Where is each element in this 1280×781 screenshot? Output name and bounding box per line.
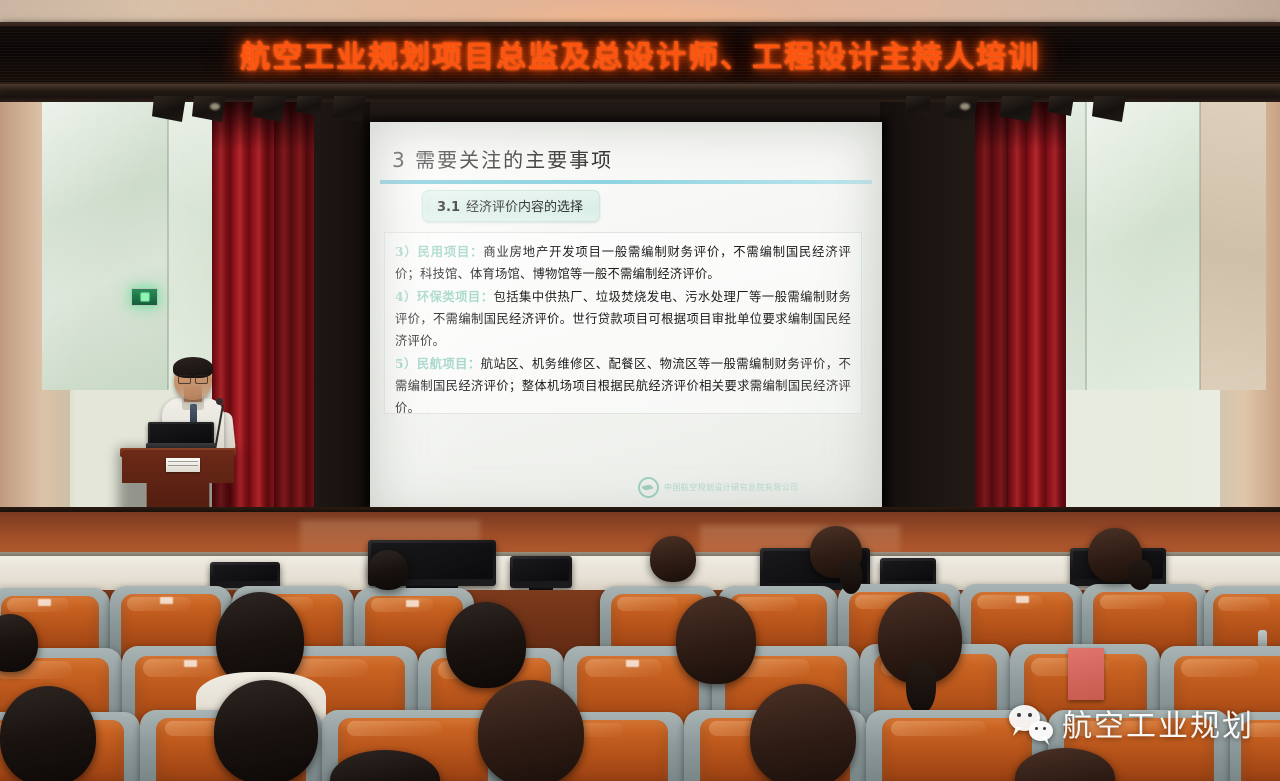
slide-subtitle-text: 经济评价内容的选择 bbox=[466, 200, 583, 215]
led-banner: 航空工业规划项目总监及总设计师、工程设计主持人培训 bbox=[0, 22, 1280, 88]
podium-nameplate bbox=[166, 458, 200, 472]
paragraph-lead: 5）民航项目： bbox=[395, 356, 481, 371]
company-logo-text: 中国航空规划设计研究总院有限公司 bbox=[664, 482, 798, 493]
stage-curtain-right-inner bbox=[975, 90, 1011, 538]
slide-subtitle-number: 3.1 bbox=[437, 200, 460, 215]
audience-head bbox=[750, 684, 856, 781]
stage-curtain-right bbox=[1008, 90, 1066, 538]
slide-paragraph: 3）民用项目：商业房地产开发项目一般需编制财务评价，不需编制国民经济评价；科技馆… bbox=[395, 241, 851, 285]
audience-head bbox=[368, 550, 408, 590]
lamp-glow bbox=[960, 103, 970, 110]
audience-ponytail bbox=[1128, 560, 1152, 590]
slide-paragraph: 5）民航项目：航站区、机务维修区、配餐区、物流区等一般需编制财务评价，不需编制国… bbox=[395, 353, 851, 419]
audience-head bbox=[676, 596, 756, 684]
audience-ponytail bbox=[840, 560, 862, 594]
audience-head bbox=[446, 602, 526, 688]
panel-seam bbox=[1199, 90, 1201, 390]
slide-paragraph: 4）环保类项目：包括集中供热厂、垃圾焚烧发电、污水处理厂等一般需编制财务评价，不… bbox=[395, 286, 851, 352]
monitor bbox=[210, 562, 280, 588]
lamp-glow bbox=[210, 103, 220, 110]
slide-body: 3）民用项目：商业房地产开发项目一般需编制财务评价，不需编制国民经济评价；科技馆… bbox=[384, 232, 862, 414]
microphone-icon bbox=[216, 398, 223, 405]
emergency-exit-sign-icon bbox=[131, 288, 158, 306]
audience-head bbox=[650, 536, 696, 582]
panel-seam bbox=[1085, 90, 1087, 390]
company-logo-icon bbox=[638, 477, 659, 498]
projection-screen: 3 需要关注的主要事项 3.1经济评价内容的选择 3）民用项目：商业房地产开发项… bbox=[370, 122, 882, 526]
slide-title: 3 需要关注的主要事项 bbox=[392, 144, 613, 173]
audience-ponytail bbox=[906, 662, 936, 714]
audience-head bbox=[0, 686, 96, 781]
slide-footer-logo: 中国航空规划设计研究总院有限公司 bbox=[638, 477, 798, 498]
monitor bbox=[510, 556, 572, 588]
laptop-lid bbox=[148, 422, 214, 445]
slide-subtitle-box: 3.1经济评价内容的选择 bbox=[422, 190, 600, 222]
speaker-glasses-icon bbox=[178, 375, 208, 382]
wechat-icon bbox=[1009, 705, 1053, 741]
paragraph-lead: 4）环保类项目： bbox=[395, 289, 493, 304]
banner-title: 航空工业规划项目总监及总设计师、工程设计主持人培训 bbox=[240, 32, 1040, 76]
stage-curtain-left-inner bbox=[274, 90, 314, 538]
acoustic-panel bbox=[1086, 90, 1206, 390]
acoustic-panel bbox=[1200, 90, 1266, 390]
watermark-text: 航空工业规划 bbox=[1062, 701, 1254, 745]
banner-frame-lip bbox=[0, 84, 1280, 91]
audience-head bbox=[214, 680, 318, 781]
auditorium-photo: 航空工业规划项目总监及总设计师、工程设计主持人培训 3 需要关注的主要事项 3.… bbox=[0, 0, 1280, 781]
audience-head bbox=[478, 680, 584, 781]
panel-seam bbox=[167, 90, 169, 390]
title-underline bbox=[380, 180, 872, 184]
acoustic-panel bbox=[42, 90, 172, 390]
presentation-slide: 3 需要关注的主要事项 3.1经济评价内容的选择 3）民用项目：商业房地产开发项… bbox=[370, 122, 882, 526]
wechat-watermark: 航空工业规划 bbox=[1009, 701, 1254, 745]
paragraph-lead: 3）民用项目： bbox=[395, 244, 483, 259]
red-card bbox=[1068, 648, 1104, 700]
